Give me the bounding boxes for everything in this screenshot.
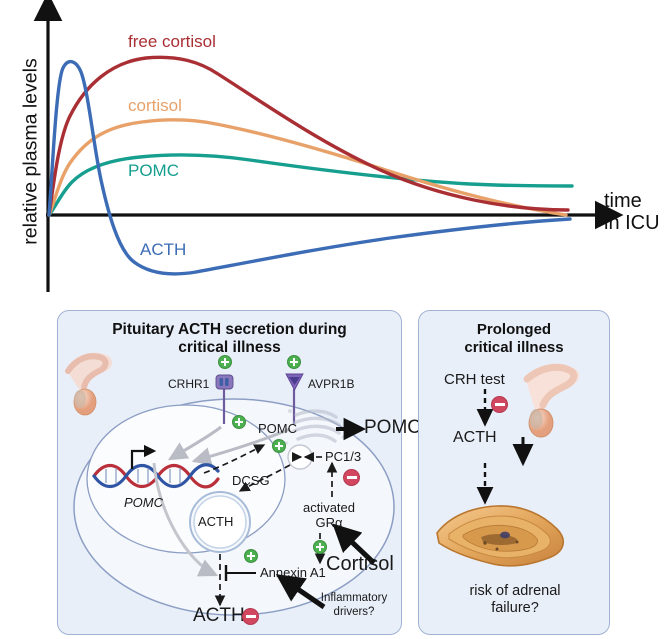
label-outcome-line2: failure? bbox=[431, 600, 599, 617]
label-activated-gra-line1: activated bbox=[290, 501, 368, 516]
pituitary-gland-icon bbox=[66, 353, 112, 415]
label-inflammatory-drivers: Inflammatory drivers? bbox=[308, 592, 400, 620]
x-axis-label-line1: time bbox=[604, 190, 660, 212]
badge-plus-activated-gra bbox=[313, 540, 327, 554]
badge-plus-transcription bbox=[232, 415, 246, 429]
label-cortisol: Cortisol bbox=[326, 553, 394, 576]
badge-minus-acth-output bbox=[242, 608, 259, 625]
adrenal-gland-icon bbox=[437, 506, 563, 566]
series-label-cortisol: cortisol bbox=[128, 96, 182, 116]
avpr1b-receptor-icon bbox=[286, 374, 303, 390]
label-pomc-secreted: POMC bbox=[364, 417, 421, 439]
badge-plus-avpr1b bbox=[287, 355, 301, 369]
badge-plus-annexin-a1 bbox=[244, 549, 258, 563]
label-crh-test: CRH test bbox=[444, 371, 505, 388]
panel-prolonged-critical-illness: Prolonged critical illness bbox=[418, 310, 610, 635]
label-outcome: risk of adrenal failure? bbox=[431, 583, 599, 618]
series-free-cortisol-curve bbox=[49, 57, 568, 215]
label-pomc-gene: POMC bbox=[124, 495, 163, 510]
label-acth-vesicle: ACTH bbox=[198, 514, 233, 529]
plasma-levels-chart: relative plasma levels time in ICU free … bbox=[0, 0, 667, 300]
label-crhr1: CRHR1 bbox=[168, 377, 209, 391]
label-avpr1b: AVPR1B bbox=[308, 377, 354, 391]
series-label-free-cortisol: free cortisol bbox=[128, 32, 216, 52]
series-label-acth: ACTH bbox=[140, 240, 186, 260]
label-outcome-line1: risk of adrenal bbox=[431, 583, 599, 600]
x-axis-label-line2: in ICU bbox=[604, 212, 660, 234]
label-pc13: PC1/3 bbox=[325, 449, 361, 464]
chart-svg bbox=[0, 0, 667, 300]
badge-plus-pomc-transcript bbox=[272, 439, 286, 453]
label-inflammatory-line2: drivers? bbox=[308, 606, 400, 620]
label-acth-right: ACTH bbox=[453, 429, 497, 447]
label-inflammatory-line1: Inflammatory bbox=[308, 592, 400, 606]
y-axis-label: relative plasma levels bbox=[20, 37, 43, 267]
crhr1-receptor-icon bbox=[216, 375, 233, 389]
label-activated-gra-line2: GRα bbox=[290, 516, 368, 531]
badge-minus-crh-test bbox=[491, 396, 508, 413]
series-label-pomc: POMC bbox=[128, 161, 179, 181]
label-pomc-transcript: POMC bbox=[258, 421, 297, 436]
badge-plus-crhr1 bbox=[218, 355, 232, 369]
pituitary-gland-icon-right bbox=[525, 365, 579, 437]
label-dcsg: DCSG bbox=[232, 473, 270, 488]
label-annexin-a1: Annexin A1 bbox=[260, 565, 326, 580]
label-acth-output: ACTH bbox=[193, 605, 245, 627]
badge-minus-pc13 bbox=[343, 469, 360, 486]
x-axis-label: time in ICU bbox=[604, 190, 660, 235]
panel-pituitary-acth-secretion: Pituitary ACTH secretion during critical… bbox=[57, 310, 402, 635]
label-activated-gra: activated GRα bbox=[290, 501, 368, 531]
